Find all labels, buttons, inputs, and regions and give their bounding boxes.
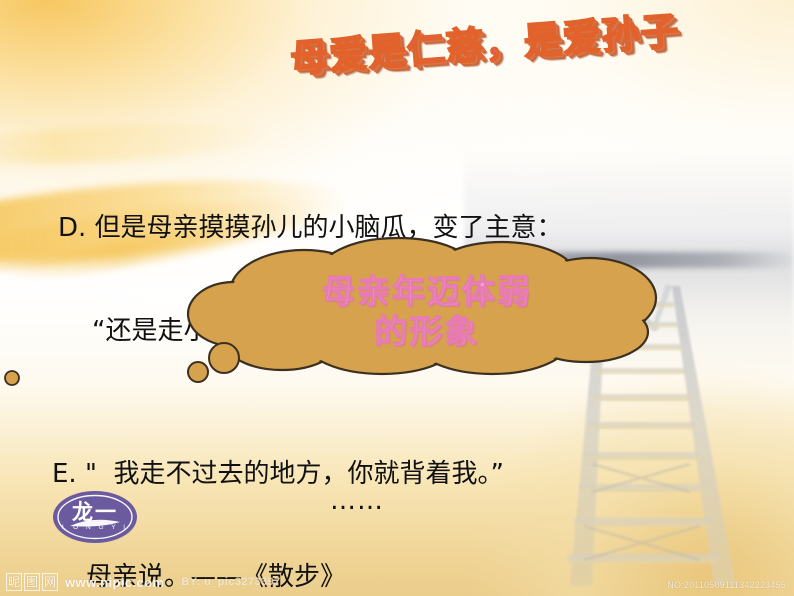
thought-bubble-shape	[186, 236, 668, 396]
logo-chinese-text: 龙一	[52, 496, 138, 526]
watermark-author: BY: u_pic3273397	[181, 576, 280, 588]
watermark-bar: 昵 图 网 www.nipic.com BY: u_pic3273397 NO:…	[0, 568, 794, 596]
thought-bubble: 母亲年迈体弱 的形象	[186, 236, 668, 396]
watermark-url: www.nipic.com	[65, 575, 164, 590]
logo-english-text: L O N G Y I	[52, 524, 138, 531]
watermark-left: 昵 图 网 www.nipic.com BY: u_pic3273397	[6, 573, 281, 591]
thought-dot-medium	[188, 362, 208, 382]
ellipsis-text: ……	[330, 484, 384, 518]
watermark-site-name: 昵 图 网	[6, 573, 58, 591]
watermark-char-3: 网	[42, 573, 58, 591]
watermark-char-2: 图	[24, 573, 40, 591]
watermark-number: NO:20110509111342223455	[667, 580, 786, 590]
longyi-logo: 龙一 L O N G Y I	[52, 490, 138, 544]
thought-dot-small	[5, 371, 19, 385]
thought-dot-small-group	[0, 358, 38, 388]
watermark-char-1: 昵	[6, 573, 22, 591]
presentation-slide: 母爱是仁慈，是爱孙子 D. 但是母亲摸摸孙儿的小脑瓜，变了主意： “还是走小路吧…	[0, 0, 794, 596]
quote-e-line-1: E. " 我走不过去的地方，你就背着我。”	[52, 457, 504, 491]
thought-dot-large	[209, 343, 239, 373]
